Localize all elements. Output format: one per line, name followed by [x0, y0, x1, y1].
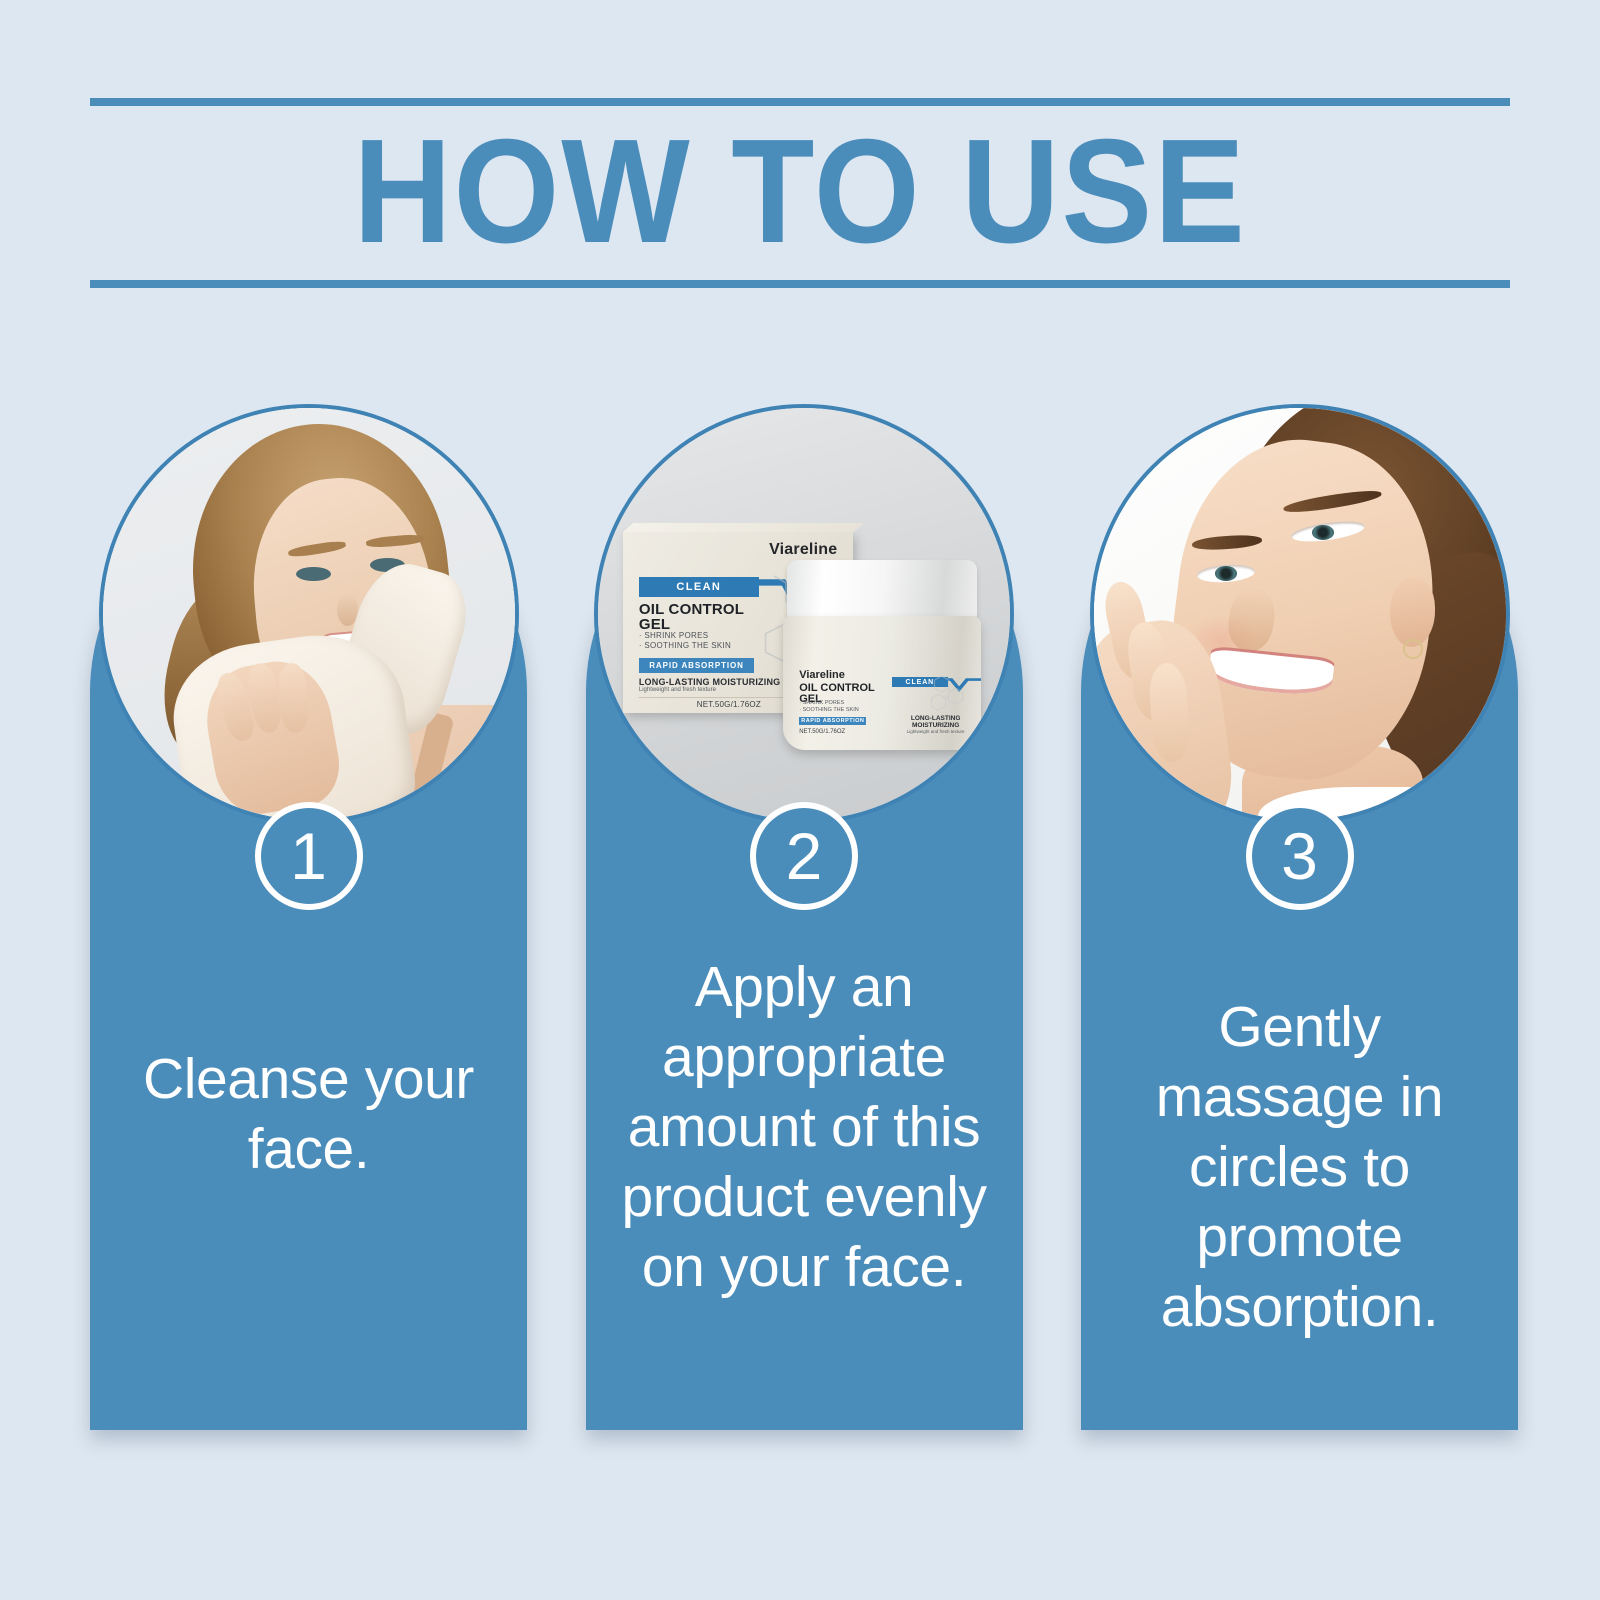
- step-1-caption: Cleanse your face.: [116, 1044, 501, 1184]
- product-brand-box: Viareline: [623, 541, 838, 559]
- header: HOW TO USE: [90, 98, 1510, 288]
- product-claim-jar: LONG-LASTING MOISTURIZING Lightweight an…: [892, 715, 979, 734]
- product-bullets-jar: · SHRINK PORES · SOOTHING THE SKIN: [799, 700, 859, 714]
- product-brand-jar: Viareline: [799, 669, 845, 681]
- step-2-image: Viareline CLEAN OIL CONTROL GEL: [594, 404, 1014, 824]
- step-card-3: 3 Gently massage in circles to promote a…: [1081, 404, 1518, 1430]
- product-net-weight-jar: NET.50G/1.76OZ: [799, 729, 845, 735]
- product-rapid-badge-jar: RAPID ABSORPTION: [799, 717, 866, 725]
- step-3-number-badge: 3: [1246, 802, 1354, 910]
- product-jar: Viareline OIL CONTROL GEL · SHRINK PORES…: [783, 560, 981, 745]
- step-card-2: Viareline CLEAN OIL CONTROL GEL: [586, 404, 1023, 1430]
- photo-product-pack: Viareline CLEAN OIL CONTROL GEL: [598, 408, 1010, 820]
- step-1-image: [99, 404, 519, 824]
- molecule-graphic-jar-icon: [918, 672, 977, 717]
- step-2-number-badge: 2: [750, 802, 858, 910]
- step-3-caption: Gently massage in circles to promote abs…: [1107, 992, 1492, 1342]
- product-rapid-badge-box: RAPID ABSORPTION: [639, 658, 754, 673]
- step-1-number-badge: 1: [255, 802, 363, 910]
- header-bottom-divider: [90, 280, 1510, 288]
- step-card-1: 1 Cleanse your face.: [90, 404, 527, 1430]
- header-top-divider: [90, 98, 1510, 106]
- step-2-caption: Apply an appropriate amount of this prod…: [612, 952, 997, 1302]
- page-title: HOW TO USE: [147, 106, 1453, 280]
- photo-massage-face: [1094, 408, 1506, 820]
- step-3-image: [1090, 404, 1510, 824]
- product-clean-banner-box: CLEAN: [639, 577, 759, 597]
- steps-container: 1 Cleanse your face. Viareline CLEAN: [90, 404, 1518, 1430]
- photo-cleanse-face: [103, 408, 515, 820]
